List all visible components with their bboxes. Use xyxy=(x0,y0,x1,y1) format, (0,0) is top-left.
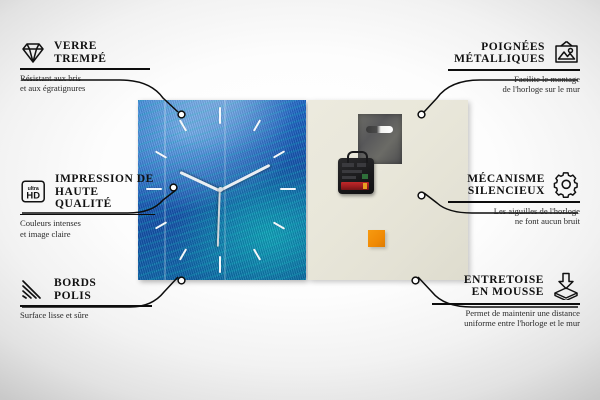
quartz-mechanism xyxy=(338,158,374,194)
feature-divider xyxy=(432,303,580,305)
clock-back-panel xyxy=(308,100,468,280)
hanger-keyhole-slot xyxy=(366,126,393,133)
feature-title: ENTRETOISE EN MOUSSE xyxy=(464,274,544,299)
feature-bords-polis[interactable]: BORDS POLIS Surface lisse et sûre xyxy=(20,277,152,320)
product-photo xyxy=(138,100,468,280)
feature-header: MÉCANISME SILENCIEUX xyxy=(448,172,580,198)
feature-subtitle: Couleurs intenses et image claire xyxy=(20,218,155,239)
badge-large-text: HD xyxy=(26,190,40,201)
battery-terminal xyxy=(363,183,367,189)
feature-subtitle: Résistant aux bris et aux égratignures xyxy=(20,73,150,94)
feature-header: ENTRETOISE EN MOUSSE xyxy=(432,272,580,300)
feature-header: BORDS POLIS xyxy=(20,277,152,302)
infographic-canvas: VERRE TREMPÉ Résistant aux bris et aux é… xyxy=(0,0,600,400)
arrow-onto-foam-icon xyxy=(552,272,580,300)
feature-title: BORDS POLIS xyxy=(54,277,96,302)
feature-title: IMPRESSION DE HAUTE QUALITÉ xyxy=(55,173,155,211)
feature-verre-trempe[interactable]: VERRE TREMPÉ Résistant aux bris et aux é… xyxy=(20,40,150,93)
diamond-icon xyxy=(20,41,46,65)
foam-spacer xyxy=(368,230,385,247)
feature-divider xyxy=(448,201,580,203)
gear-icon xyxy=(553,172,580,198)
feature-subtitle: Facilite le montage de l'horloge sur le … xyxy=(448,74,580,95)
feature-poignees-metalliques[interactable]: POIGNÉES MÉTALLIQUES Facilite le montage… xyxy=(448,40,580,94)
feature-mecanisme-silencieux[interactable]: MÉCANISME SILENCIEUX Les aiguilles de l'… xyxy=(448,172,580,226)
feature-subtitle: Surface lisse et sûre xyxy=(20,310,152,320)
feature-divider xyxy=(20,305,152,307)
feature-title: MÉCANISME SILENCIEUX xyxy=(467,173,545,198)
mechanism-hanging-loop xyxy=(347,151,368,163)
battery xyxy=(341,182,369,190)
feature-title: VERRE TREMPÉ xyxy=(54,40,107,65)
feature-divider xyxy=(20,214,155,216)
feature-divider xyxy=(448,69,580,71)
feature-header: VERRE TREMPÉ xyxy=(20,40,150,65)
feature-header: ultra HD IMPRESSION DE HAUTE QUALITÉ xyxy=(20,173,155,211)
feature-subtitle: Permet de maintenir une distance uniform… xyxy=(432,308,580,329)
polished-edge-icon xyxy=(20,278,46,302)
clock-face-front xyxy=(138,100,306,280)
picture-frame-hanging-icon xyxy=(553,40,580,66)
feature-entretoise-mousse[interactable]: ENTRETOISE EN MOUSSE Permet de maintenir… xyxy=(432,272,580,328)
feature-divider xyxy=(20,68,150,70)
feature-title: POIGNÉES MÉTALLIQUES xyxy=(454,41,545,66)
feature-impression-haute-qualite[interactable]: ultra HD IMPRESSION DE HAUTE QUALITÉ Cou… xyxy=(20,173,155,239)
feature-header: POIGNÉES MÉTALLIQUES xyxy=(448,40,580,66)
ultra-hd-badge-icon: ultra HD xyxy=(20,179,47,204)
feature-subtitle: Les aiguilles de l'horloge ne font aucun… xyxy=(448,206,580,227)
